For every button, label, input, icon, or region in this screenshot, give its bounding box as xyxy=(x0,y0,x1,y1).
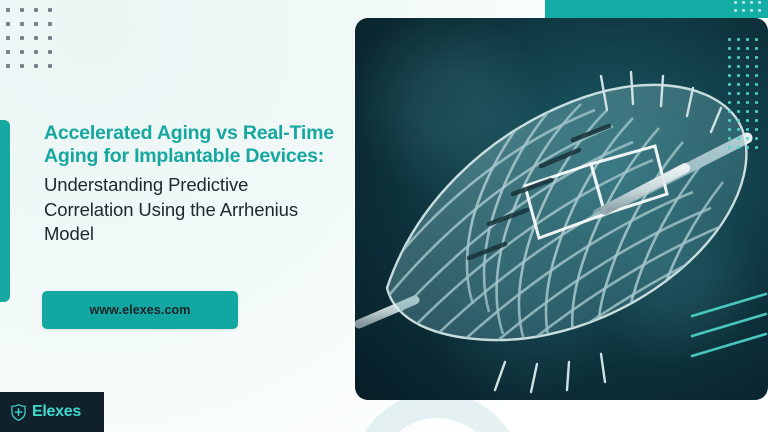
diagonal-lines-decoration xyxy=(648,286,768,376)
dot xyxy=(755,92,758,95)
dot xyxy=(746,47,749,50)
dot xyxy=(746,101,749,104)
dot xyxy=(737,83,740,86)
hero-image-panel xyxy=(355,18,768,400)
dot xyxy=(746,119,749,122)
dot xyxy=(48,64,52,68)
dot xyxy=(6,64,10,68)
left-accent-bar xyxy=(0,120,10,302)
dot xyxy=(728,38,731,41)
dot xyxy=(34,8,38,12)
dot xyxy=(20,36,24,40)
dot xyxy=(728,146,731,149)
teal-bar-dot-grid-decoration xyxy=(734,1,766,17)
dot xyxy=(6,36,10,40)
brand-name: Elexes xyxy=(32,403,81,421)
dot xyxy=(750,9,753,12)
dot xyxy=(48,22,52,26)
dot xyxy=(737,47,740,50)
dot xyxy=(734,9,737,12)
dot xyxy=(755,56,758,59)
dot xyxy=(34,50,38,54)
dot xyxy=(737,74,740,77)
dot xyxy=(20,50,24,54)
dot xyxy=(737,137,740,140)
top-teal-bar-decoration xyxy=(545,0,768,18)
page-title-highlight: Accelerated Aging vs Real-Time Aging for… xyxy=(44,122,334,168)
dot xyxy=(755,128,758,131)
dot xyxy=(34,22,38,26)
shield-medical-cross-icon xyxy=(9,403,28,422)
dot xyxy=(755,146,758,149)
dot xyxy=(746,137,749,140)
dot xyxy=(746,56,749,59)
dot xyxy=(755,101,758,104)
dot xyxy=(737,146,740,149)
dot xyxy=(737,38,740,41)
dot xyxy=(755,38,758,41)
dot xyxy=(728,56,731,59)
dot xyxy=(755,137,758,140)
dot xyxy=(734,1,737,4)
dot xyxy=(746,146,749,149)
dot xyxy=(746,74,749,77)
dot xyxy=(48,36,52,40)
dot xyxy=(728,101,731,104)
dot xyxy=(737,110,740,113)
dot xyxy=(48,8,52,12)
dot xyxy=(742,9,745,12)
dot xyxy=(20,22,24,26)
dot xyxy=(728,92,731,95)
headline-block: Accelerated Aging vs Real-Time Aging for… xyxy=(44,122,334,247)
dot xyxy=(6,50,10,54)
dot xyxy=(728,47,731,50)
dot xyxy=(20,64,24,68)
website-url-label: www.elexes.com xyxy=(90,303,191,317)
dot xyxy=(20,8,24,12)
dot xyxy=(737,56,740,59)
dot xyxy=(746,38,749,41)
dot xyxy=(755,74,758,77)
dot xyxy=(728,65,731,68)
dot xyxy=(746,92,749,95)
dot xyxy=(758,1,761,4)
dot xyxy=(755,110,758,113)
brand-logo-bar[interactable]: Elexes xyxy=(0,392,104,432)
dot xyxy=(728,83,731,86)
dot xyxy=(746,83,749,86)
dot xyxy=(746,128,749,131)
dot xyxy=(728,110,731,113)
poster-canvas: Accelerated Aging vs Real-Time Aging for… xyxy=(0,0,768,432)
dot xyxy=(755,83,758,86)
dot xyxy=(750,1,753,4)
dot xyxy=(6,8,10,12)
dot xyxy=(728,137,731,140)
dot xyxy=(728,74,731,77)
dot xyxy=(34,36,38,40)
dot xyxy=(755,119,758,122)
dot xyxy=(728,119,731,122)
dot xyxy=(737,92,740,95)
dot xyxy=(746,65,749,68)
dot xyxy=(758,9,761,12)
dot xyxy=(755,65,758,68)
dot xyxy=(728,128,731,131)
dot xyxy=(48,50,52,54)
panel-dot-grid-decoration xyxy=(728,38,764,155)
dot xyxy=(34,64,38,68)
dot xyxy=(742,1,745,4)
dot xyxy=(746,110,749,113)
page-subtitle: Understanding Predictive Correlation Usi… xyxy=(44,173,334,247)
dot xyxy=(755,47,758,50)
website-url-button[interactable]: www.elexes.com xyxy=(42,291,238,329)
dot xyxy=(737,65,740,68)
dot xyxy=(737,128,740,131)
top-left-dot-grid-decoration xyxy=(6,8,62,78)
dot xyxy=(737,119,740,122)
dot xyxy=(737,101,740,104)
dot xyxy=(6,22,10,26)
